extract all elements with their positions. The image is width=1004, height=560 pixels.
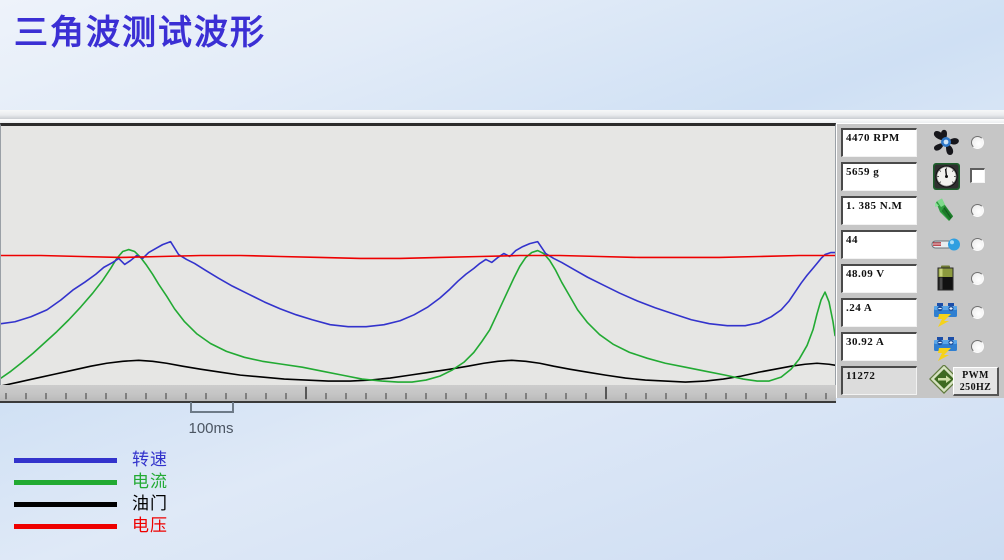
legend-label-rpm: 转速 [132,449,168,471]
time-ruler-ticks [0,385,836,401]
thermometer-icon [929,229,963,260]
page-title: 三角波测试波形 [14,12,266,54]
current-2-value: 30.92 A [841,332,917,361]
legend-label-voltage: 电压 [132,515,168,537]
pwm-value: 11272 [841,366,917,395]
waveform-plot [1,126,835,385]
car-battery-icon [929,297,963,328]
current-1-value: .24 A [841,298,917,327]
gauge-icon [929,161,963,192]
thrust-checkbox[interactable] [970,168,985,183]
voltage-radio[interactable] [971,272,984,285]
readout-row-torque: 1. 385 N.M [841,196,1001,229]
voltage-value: 48.09 V [841,264,917,293]
legend-item-rpm[interactable]: 转速 [14,450,274,472]
series-电流 [1,250,835,382]
pwm-frequency-button[interactable]: PWM 250HZ [953,367,999,396]
legend-item-throttle[interactable]: 油门 [14,494,274,516]
readout-side-panel: 4470 RPM 5659 g [836,123,1004,398]
legend-item-current[interactable]: 电流 [14,472,274,494]
legend-swatch-throttle [14,502,117,507]
rpm-value: 4470 RPM [841,128,917,157]
temperature-value: 44 [841,230,917,259]
readout-row-thrust: 5659 g [841,162,1001,195]
series-电压 [1,256,835,259]
chart-legend: 转速 电流 油门 电压 [14,450,274,538]
pwm-button-line2: 250HZ [954,382,997,394]
torque-radio[interactable] [971,204,984,217]
legend-label-current: 电流 [132,471,168,493]
readout-row-pwm: 11272 PWM 250HZ [841,366,1001,399]
waveform-svg [1,126,835,385]
torque-value: 1. 385 N.M [841,196,917,225]
waveform-chart-panel[interactable] [0,123,836,385]
current-2-radio[interactable] [971,340,984,353]
pwm-button-line1: PWM [954,370,997,382]
readout-row-rpm: 4470 RPM [841,128,1001,161]
battery-icon [929,263,963,294]
readout-row-current-1: .24 A [841,298,1001,331]
car-battery-icon [929,331,963,362]
readout-row-current-2: 30.92 A [841,332,1001,365]
legend-swatch-rpm [14,458,117,463]
time-ruler[interactable] [0,385,836,403]
legend-swatch-voltage [14,524,117,529]
oscilloscope-window: 4470 RPM 5659 g [0,110,1004,398]
legend-item-voltage[interactable]: 电压 [14,516,274,538]
readout-row-voltage: 48.09 V [841,264,1001,297]
legend-label-throttle: 油门 [132,493,168,515]
rpm-radio[interactable] [971,136,984,149]
series-转速 [1,242,835,327]
fan-icon [929,127,963,158]
temperature-radio[interactable] [971,238,984,251]
time-scale-label: 100ms [168,420,254,437]
torque-wrench-icon [929,195,963,226]
current-1-radio[interactable] [971,306,984,319]
readout-row-temperature: 44 [841,230,1001,263]
time-scale-bar [190,402,234,413]
legend-swatch-current [14,480,117,485]
thrust-value: 5659 g [841,162,917,191]
window-top-band [0,110,1004,119]
